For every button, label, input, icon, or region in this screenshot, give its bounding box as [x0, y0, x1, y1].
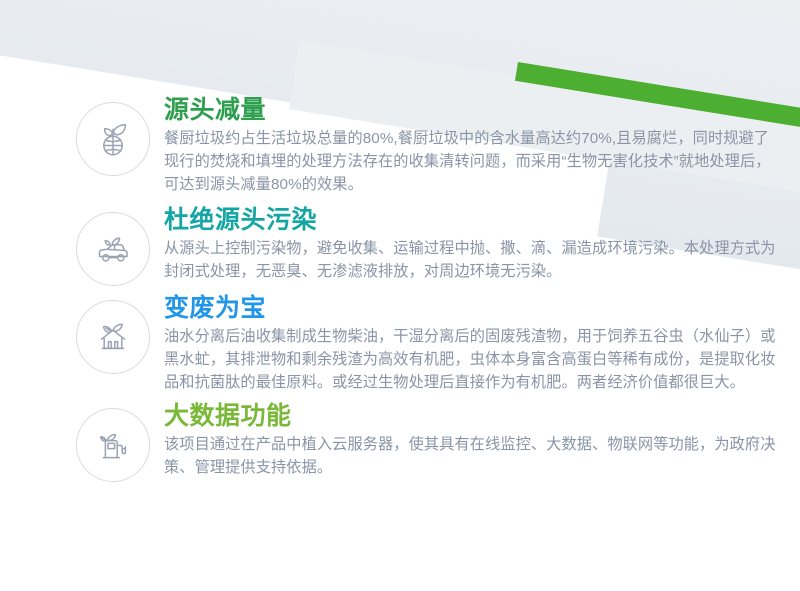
feature-text-block: 源头减量 餐厨垃圾约占生活垃圾总量的80%,餐厨垃圾中的含水量高达约70%,且易…	[150, 96, 800, 196]
feature-description: 从源头上控制污染物，避免收集、运输过程中抛、撒、滴、漏造成环境污染。本处理方式为…	[164, 237, 778, 283]
feature-text-block: 变废为宝 油水分离后油收集制成生物柴油，干湿分离后的固废残渣物，用于饲养五谷虫（…	[150, 294, 800, 394]
eco-house-icon	[76, 300, 150, 374]
feature-description: 油水分离后油收集制成生物柴油，干湿分离后的固废残渣物，用于饲养五谷虫（水仙子）或…	[164, 325, 778, 394]
feature-description: 该项目通过在产品中植入云服务器，使其具有在线监控、大数据、物联网等功能，为政府决…	[164, 433, 778, 479]
feature-item-waste-to-treasure: 变废为宝 油水分离后油收集制成生物柴油，干湿分离后的固废残渣物，用于饲养五谷虫（…	[0, 294, 800, 394]
page-root: 源头减量 餐厨垃圾约占生活垃圾总量的80%,餐厨垃圾中的含水量高达约70%,且易…	[0, 0, 800, 591]
biofuel-pump-icon	[76, 408, 150, 482]
feature-list: 源头减量 餐厨垃圾约占生活垃圾总量的80%,餐厨垃圾中的含水量高达约70%,且易…	[0, 0, 800, 482]
eco-vehicle-icon	[76, 212, 150, 286]
feature-title: 变废为宝	[164, 294, 778, 323]
feature-title: 源头减量	[164, 96, 778, 125]
feature-text-block: 大数据功能 该项目通过在产品中植入云服务器，使其具有在线监控、大数据、物联网等功…	[150, 402, 800, 479]
feature-item-pollution-prevention: 杜绝源头污染 从源头上控制污染物，避免收集、运输过程中抛、撒、滴、漏造成环境污染…	[0, 206, 800, 286]
feature-text-block: 杜绝源头污染 从源头上控制污染物，避免收集、运输过程中抛、撒、滴、漏造成环境污染…	[150, 206, 800, 283]
fruit-leaf-icon	[76, 102, 150, 176]
feature-item-source-reduction: 源头减量 餐厨垃圾约占生活垃圾总量的80%,餐厨垃圾中的含水量高达约70%,且易…	[0, 96, 800, 196]
feature-title: 大数据功能	[164, 402, 778, 431]
feature-item-big-data: 大数据功能 该项目通过在产品中植入云服务器，使其具有在线监控、大数据、物联网等功…	[0, 402, 800, 482]
feature-description: 餐厨垃圾约占生活垃圾总量的80%,餐厨垃圾中的含水量高达约70%,且易腐烂，同时…	[164, 127, 778, 196]
feature-title: 杜绝源头污染	[164, 206, 778, 235]
